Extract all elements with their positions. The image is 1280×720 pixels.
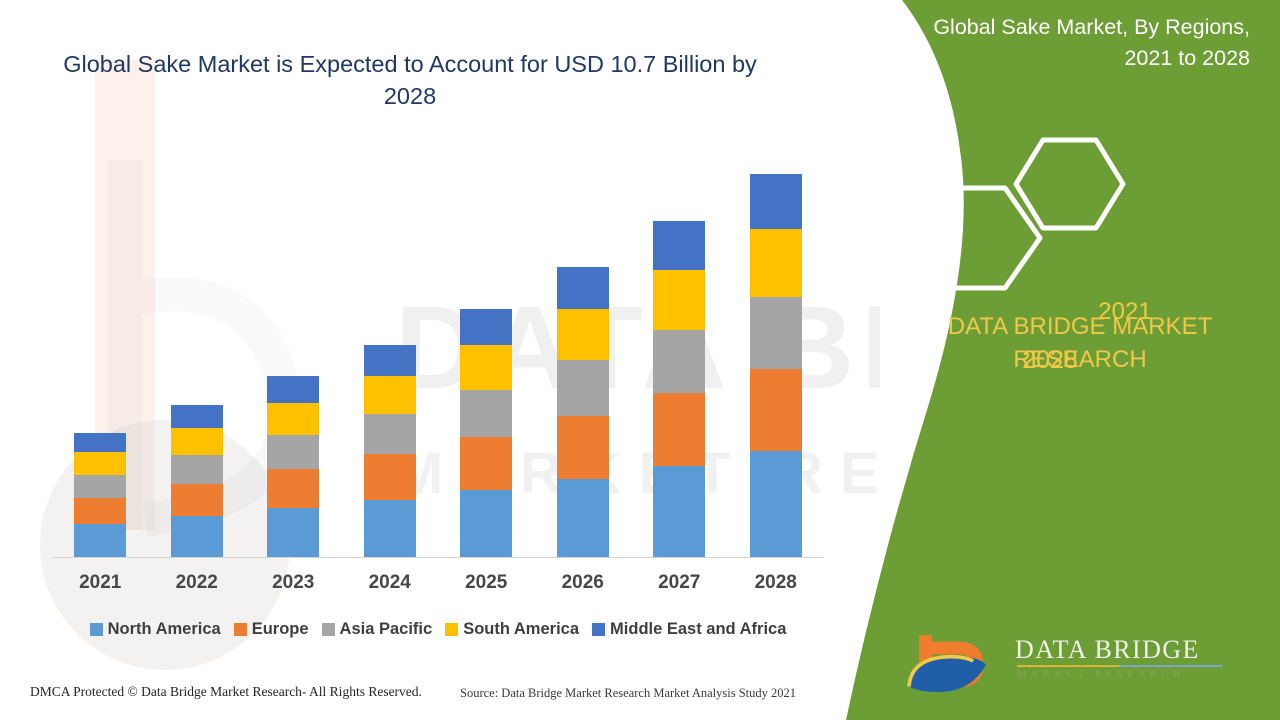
bar-column (460, 309, 512, 558)
bar-segment (557, 479, 609, 558)
data-bridge-logo: DATA BRIDGE MARKET RESEARCH (890, 625, 1280, 705)
x-axis-line (52, 557, 824, 558)
bar-segment (171, 516, 223, 558)
bar-segment (460, 490, 512, 558)
legend-swatch-icon (90, 623, 103, 636)
bar-segment (171, 428, 223, 456)
legend-label: Middle East and Africa (610, 620, 786, 639)
bar-segment (460, 345, 512, 390)
legend-swatch-icon (445, 623, 458, 636)
bar-segment (460, 390, 512, 437)
hexagon-2021-label: 2021 (1065, 298, 1185, 326)
bar-segment (557, 267, 609, 309)
chart-legend: North AmericaEuropeAsia PacificSouth Ame… (52, 616, 824, 642)
bar-segment (653, 221, 705, 270)
logo-tagline: MARKET RESEARCH (1017, 669, 1185, 680)
bar-column (750, 174, 802, 558)
bar-segment (364, 454, 416, 499)
bar-segment (267, 435, 319, 469)
bar-column (74, 433, 126, 558)
bar-segment (74, 524, 126, 558)
bar-column (653, 221, 705, 558)
bar-segment (171, 484, 223, 516)
chart-title: Global Sake Market is Expected to Accoun… (60, 48, 760, 113)
hexagon-badges: 2021 2028 (880, 128, 1280, 298)
legend-item[interactable]: Asia Pacific (322, 620, 433, 639)
x-axis-tick-label: 2021 (52, 572, 148, 594)
legend-item[interactable]: Middle East and Africa (592, 620, 786, 639)
bar-column (171, 405, 223, 558)
bar-segment (74, 498, 126, 524)
x-axis-tick-label: 2025 (438, 572, 534, 594)
bar-segment (750, 451, 802, 558)
plot-area (52, 150, 824, 558)
bar-column (364, 345, 416, 558)
bar-segment (750, 369, 802, 452)
bar-segment (557, 309, 609, 361)
bar-segment (653, 466, 705, 558)
bar-segment (364, 500, 416, 558)
legend-item[interactable]: South America (445, 620, 579, 639)
bar-column (267, 376, 319, 558)
hexagon-2028-shape (901, 188, 1040, 288)
logo-divider (1017, 665, 1222, 667)
x-axis-tick-label: 2023 (245, 572, 341, 594)
bar-segment (267, 376, 319, 403)
bar-segment (653, 393, 705, 466)
source-note: Source: Data Bridge Market Research Mark… (460, 686, 796, 701)
bar-segment (750, 229, 802, 297)
x-axis-tick-label: 2022 (149, 572, 245, 594)
logo-mark-icon (898, 627, 1008, 702)
x-axis-tick-label: 2027 (631, 572, 727, 594)
x-axis-tick-label: 2028 (728, 572, 824, 594)
legend-swatch-icon (592, 623, 605, 636)
bar-segment (74, 475, 126, 498)
bar-segment (653, 330, 705, 393)
bar-segment (750, 174, 802, 229)
brand-panel-title: Global Sake Market, By Regions, 2021 to … (890, 12, 1270, 73)
hexagon-2028-label: 2028 (985, 346, 1115, 375)
legend-item[interactable]: Europe (234, 620, 309, 639)
legend-swatch-icon (234, 623, 247, 636)
bar-segment (364, 376, 416, 414)
brand-name: DATA BRIDGE MARKET RESEARCH (890, 310, 1270, 376)
bar-segment (557, 360, 609, 415)
x-axis-tick-label: 2026 (535, 572, 631, 594)
hexagon-outlines (880, 128, 1280, 298)
bar-segment (750, 297, 802, 368)
legend-swatch-icon (322, 623, 335, 636)
bar-column (557, 267, 609, 558)
bar-segment (364, 414, 416, 454)
legend-label: South America (463, 620, 579, 639)
bar-segment (364, 345, 416, 376)
bar-segment (460, 309, 512, 345)
x-axis-labels: 20212022202320242025202620272028 (52, 572, 824, 602)
legend-label: Europe (252, 620, 309, 639)
chart-panel: DATA BRIDGE MARKET RESEARCH Global Sake … (0, 0, 880, 720)
bar-segment (74, 452, 126, 475)
bar-segment (267, 469, 319, 508)
bar-segment (557, 416, 609, 479)
bar-segment (267, 508, 319, 558)
copyright-notice: DMCA Protected © Data Bridge Market Rese… (30, 684, 422, 700)
bar-segment (267, 403, 319, 435)
bar-segment (460, 437, 512, 490)
logo-wordmark: DATA BRIDGE (1015, 635, 1200, 665)
bar-segment (171, 405, 223, 428)
legend-label: North America (108, 620, 221, 639)
bar-segment (653, 270, 705, 330)
bar-segment (171, 455, 223, 483)
legend-label: Asia Pacific (340, 620, 433, 639)
x-axis-tick-label: 2024 (342, 572, 438, 594)
hexagon-2021-shape (1016, 140, 1123, 228)
bar-segment (74, 433, 126, 452)
legend-item[interactable]: North America (90, 620, 221, 639)
